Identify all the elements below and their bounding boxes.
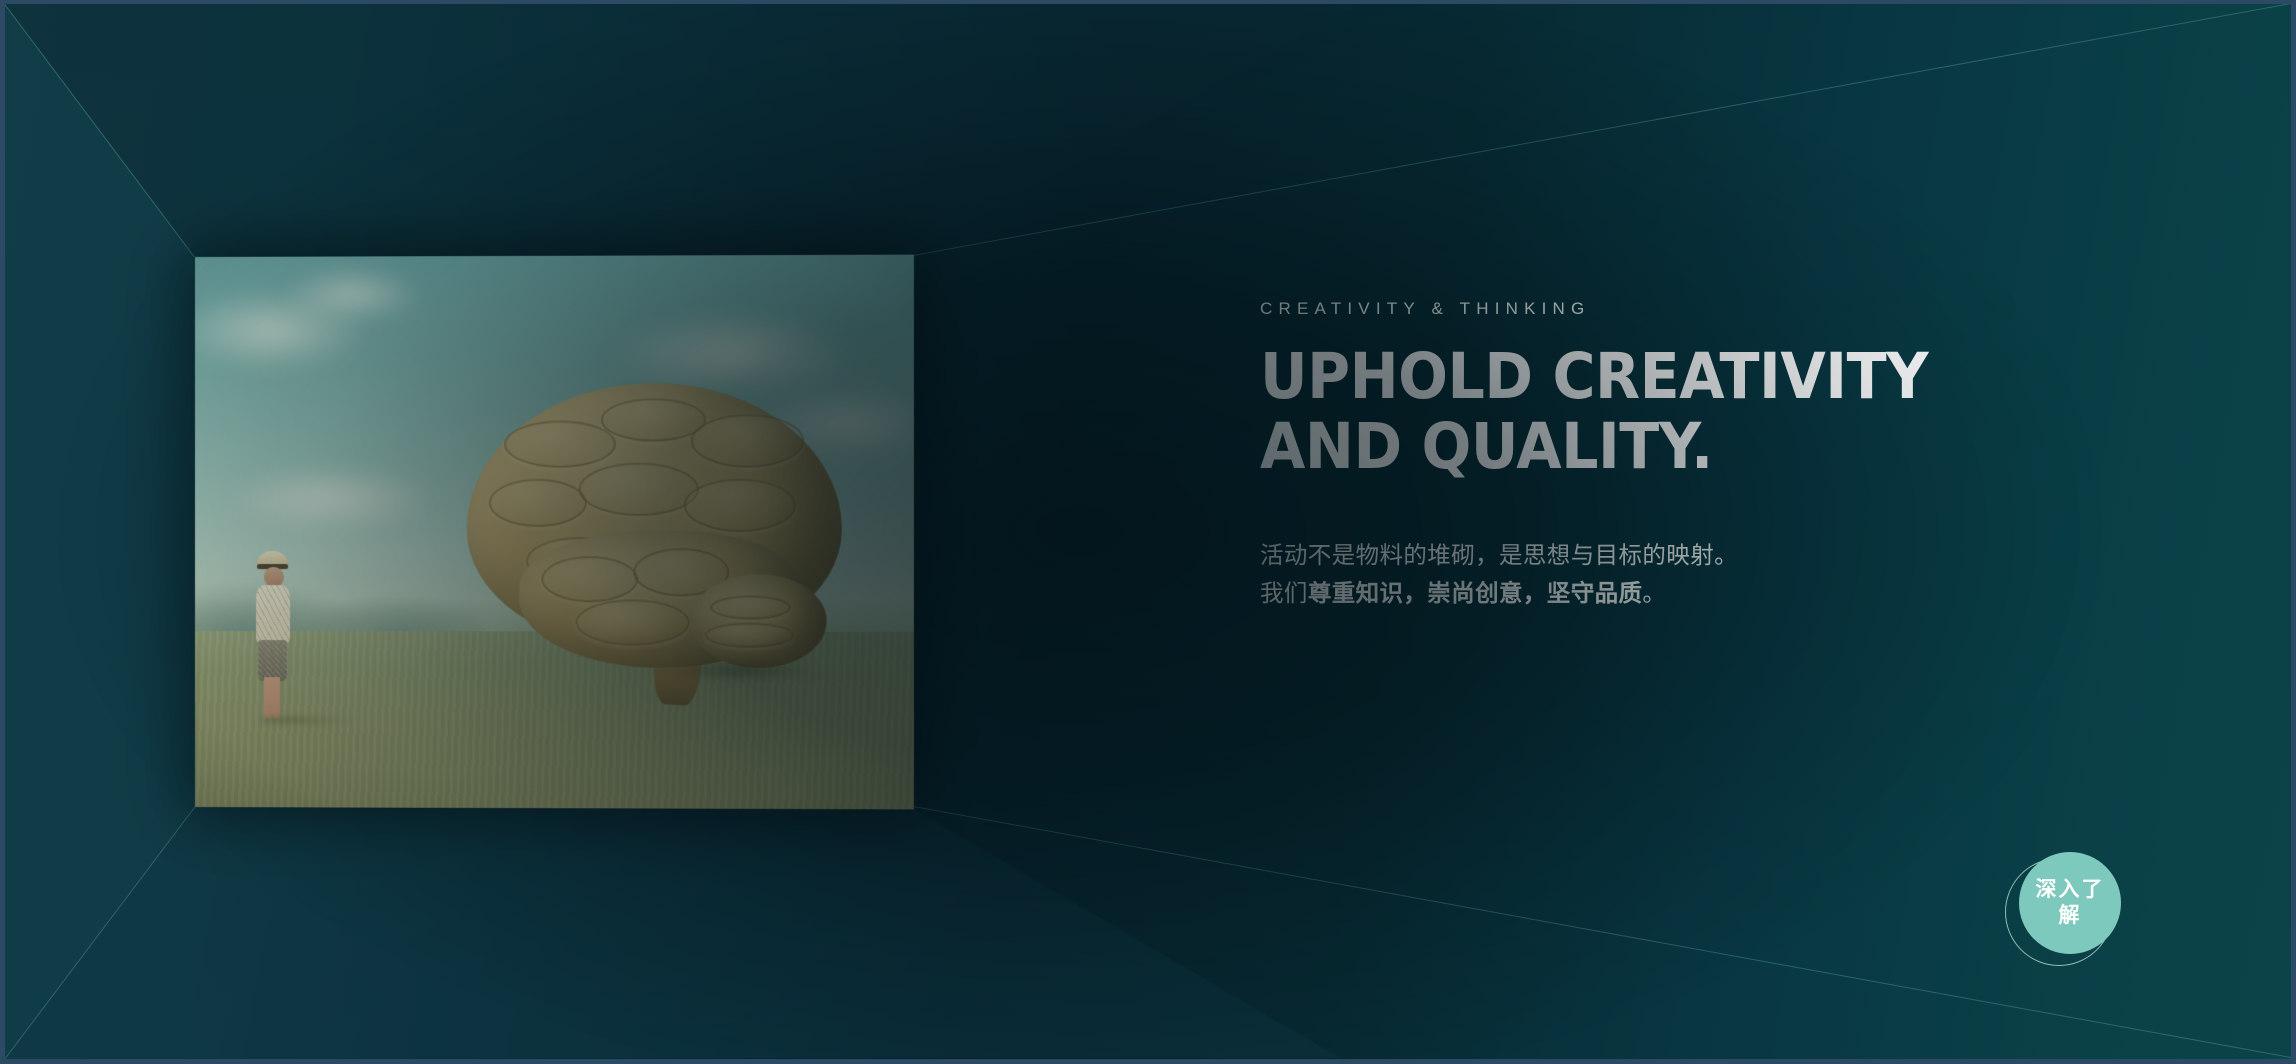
distant-hills — [195, 546, 486, 636]
perspective-room: CREATIVITY & THINKING UPHOLD CREATIVITY … — [5, 4, 2291, 1059]
cta-label: 深入了解 — [2035, 877, 2105, 928]
body-line-2-suffix: 。 — [1642, 580, 1666, 606]
headline-line-1: UPHOLD CREATIVITY — [1260, 345, 2078, 409]
brain-fold — [705, 623, 794, 647]
hero-image — [195, 255, 914, 810]
giant-brain — [467, 382, 842, 692]
brain-cerebellum — [691, 575, 826, 668]
learn-more-button[interactable]: 深入了解 — [2005, 852, 2121, 968]
cloud-shape — [281, 267, 424, 323]
hero-copy-block: CREATIVITY & THINKING UPHOLD CREATIVITY … — [1260, 299, 2140, 612]
perspective-edge-top-left — [5, 4, 195, 258]
brain-fold — [576, 599, 690, 645]
brain-fold — [691, 414, 804, 467]
brain-fold — [710, 595, 791, 619]
brain-fold — [504, 420, 616, 468]
body-line-2-emphasis: 尊重知识，崇尚创意，坚守品质 — [1308, 580, 1643, 606]
man-head — [264, 567, 284, 587]
brain-fold — [579, 463, 699, 516]
perspective-edge-top-right — [908, 4, 2291, 257]
headline-line-2: AND QUALITY. — [1260, 415, 2078, 479]
brain-fold — [489, 479, 586, 527]
cta-disc[interactable]: 深入了解 — [2019, 852, 2121, 954]
brain-fold — [601, 399, 706, 442]
man-leg — [272, 678, 280, 719]
man-leg — [264, 678, 272, 719]
body-line-1: 活动不是物料的堆砌，是思想与目标的映射。 — [1260, 536, 2140, 574]
brain-ground-shadow — [661, 661, 819, 680]
hero-image-frame[interactable] — [195, 255, 914, 810]
hero-stage: CREATIVITY & THINKING UPHOLD CREATIVITY … — [0, 0, 2296, 1064]
standing-man — [255, 551, 292, 722]
body-line-2-prefix: 我们 — [1260, 580, 1308, 606]
hero-eyebrow: CREATIVITY & THINKING — [1260, 299, 2140, 319]
brain-fold — [684, 478, 797, 531]
man-shorts — [258, 640, 288, 681]
man-shirt — [256, 585, 290, 643]
hero-body-copy: 活动不是物料的堆砌，是思想与目标的映射。 我们尊重知识，崇尚创意，坚守品质。 — [1260, 536, 2140, 612]
brain-fold — [542, 556, 639, 602]
body-line-2: 我们尊重知识，崇尚创意，坚守品质。 — [1260, 574, 2140, 612]
cloud-shape — [224, 466, 439, 532]
hero-headline: UPHOLD CREATIVITY AND QUALITY. — [1260, 345, 2078, 480]
perspective-edge-bottom-left — [5, 806, 196, 1059]
